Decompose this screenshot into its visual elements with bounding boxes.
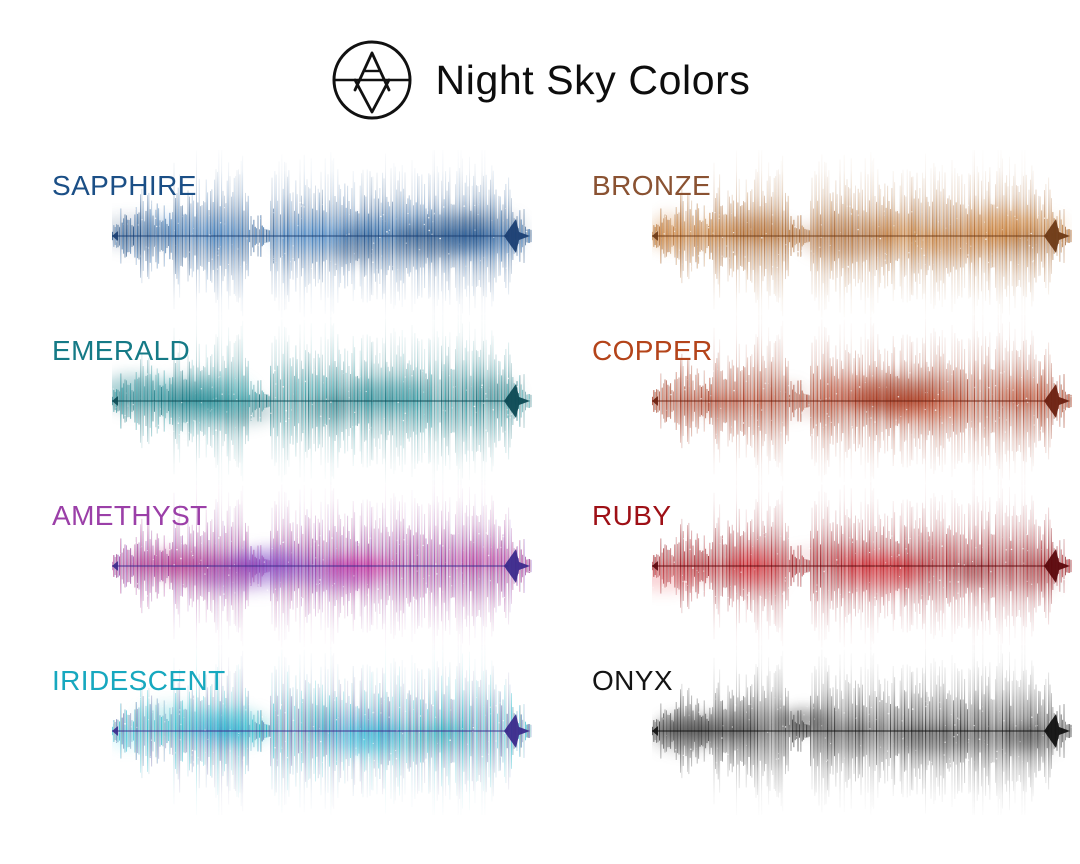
bronze-waveform-art xyxy=(652,150,1072,320)
swatch-onyx[interactable]: ONYX xyxy=(540,645,1080,825)
swatch-label-sapphire: SAPPHIRE xyxy=(52,172,197,200)
swatch-label-emerald: EMERALD xyxy=(52,337,190,365)
swatch-emerald[interactable]: EMERALD xyxy=(0,315,540,480)
ruby-waveform-art xyxy=(652,480,1072,650)
swatch-amethyst[interactable]: AMETHYST xyxy=(0,480,540,645)
swatch-iridescent[interactable]: IRIDESCENT xyxy=(0,645,540,825)
copper-waveform-art xyxy=(652,315,1072,485)
swatch-label-amethyst: AMETHYST xyxy=(52,502,208,530)
swatch-label-ruby: RUBY xyxy=(592,502,671,530)
color-swatch-grid: SAPPHIREBRONZEEMERALDCOPPERAMETHYSTRUBYI… xyxy=(0,150,1080,850)
av-circle-monogram-icon xyxy=(330,38,414,122)
swatch-label-bronze: BRONZE xyxy=(592,172,711,200)
brand-header: Night Sky Colors xyxy=(0,34,1080,126)
swatch-sapphire[interactable]: SAPPHIRE xyxy=(0,150,540,315)
onyx-waveform-art xyxy=(652,645,1072,815)
swatch-copper[interactable]: COPPER xyxy=(540,315,1080,480)
swatch-bronze[interactable]: BRONZE xyxy=(540,150,1080,315)
swatch-label-copper: COPPER xyxy=(592,337,713,365)
swatch-label-iridescent: IRIDESCENT xyxy=(52,667,226,695)
page-title: Night Sky Colors xyxy=(436,60,751,101)
swatch-label-onyx: ONYX xyxy=(592,667,673,695)
swatch-ruby[interactable]: RUBY xyxy=(540,480,1080,645)
